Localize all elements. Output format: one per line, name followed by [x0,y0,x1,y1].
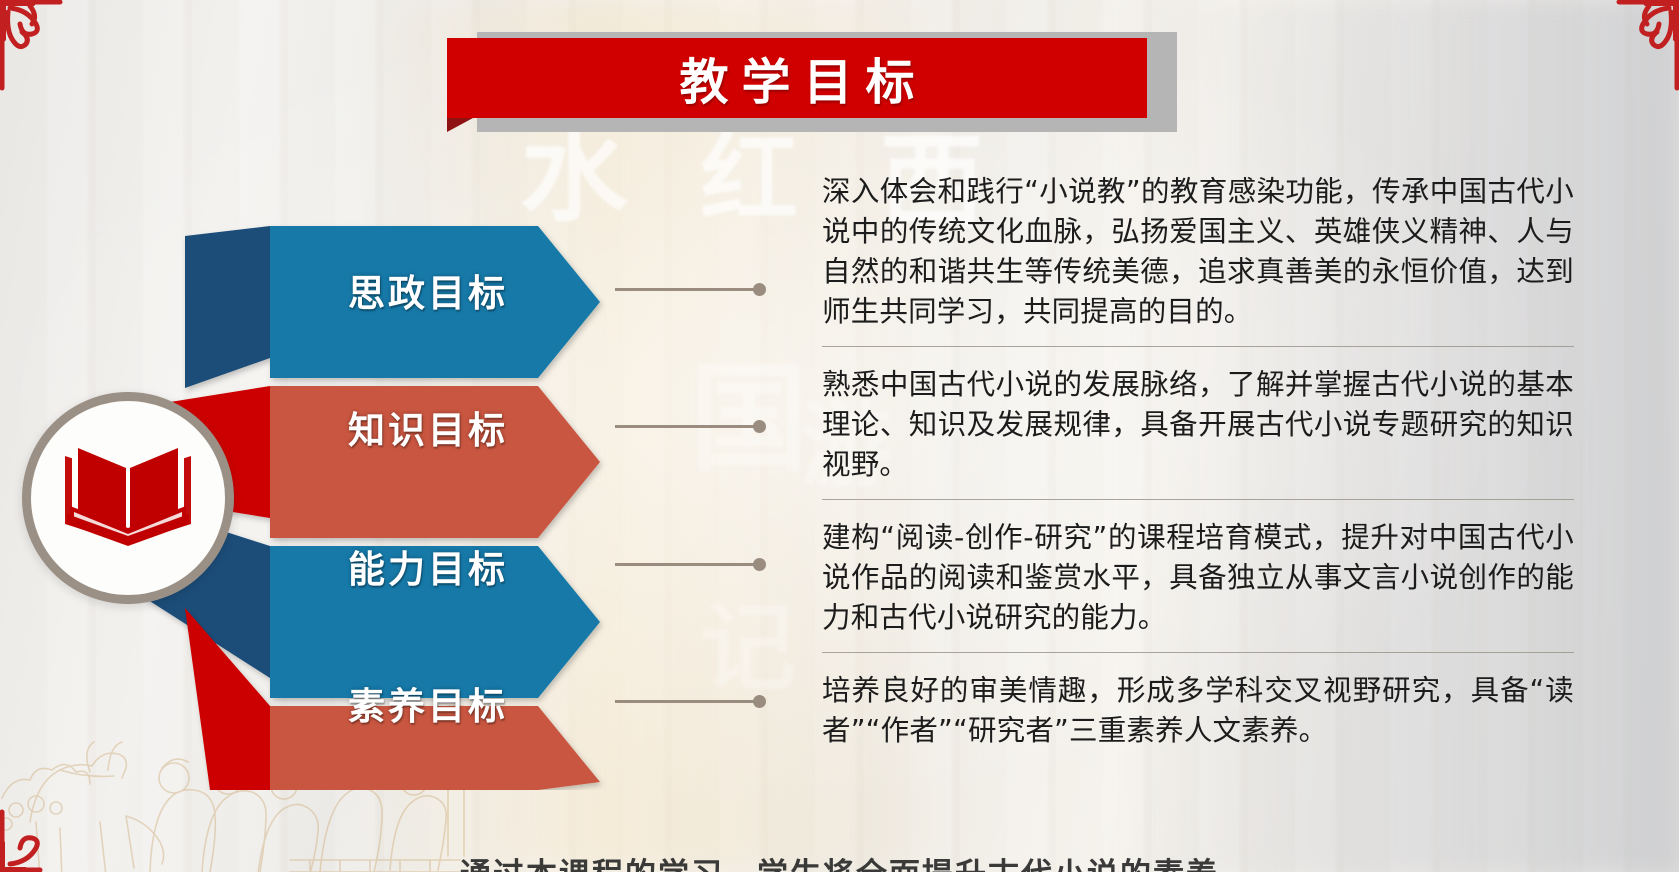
page-title: 教学目标 [447,38,1147,118]
goal-description-literacy: 培养良好的审美情趣，形成多学科交叉视野研究，具备“读者”“作者”“研究者”三重素… [822,671,1574,751]
goal-divider-3 [822,652,1574,653]
slide-canvas: 水 红 西 国 游 记 [0,0,1679,872]
goal-description-ideological: 深入体会和践行“小说教”的教育感染功能，传承中国古代小说中的传统文化血脉，弘扬爱… [822,172,1574,332]
title-banner-fold [447,118,473,132]
corner-ornament-top-left-icon [0,0,92,92]
corner-ornament-top-right-icon [1587,0,1679,92]
goal-description-ability: 建构“阅读-创作-研究”的课程培育模式，提升对中国古代小说作品的阅读和鉴赏水平，… [822,518,1574,638]
goal-chevron-body-literacy [270,706,600,790]
goal-divider-1 [822,346,1574,347]
bottom-caption: 通过本课程的学习，学生将全面提升古代小说的素养 [0,849,1679,872]
open-book-badge [22,392,234,604]
connector-dot-ability [753,558,766,571]
goal-description-block-literacy: 培养良好的审美情趣，形成多学科交叉视野研究，具备“读者”“作者”“研究者”三重素… [822,671,1574,751]
goal-description-knowledge: 熟悉中国古代小说的发展脉络，了解并掌握古代小说的基本理论、知识及发展规律，具备开… [822,365,1574,485]
title-banner: 教学目标 [447,24,1177,132]
connector-dot-knowledge [753,420,766,433]
connector-dot-literacy [753,695,766,708]
goal-description-block-ideological: 深入体会和践行“小说教”的教育感染功能，传承中国古代小说中的传统文化血脉，弘扬爱… [822,172,1574,332]
goal-description-block-ability: 建构“阅读-创作-研究”的课程培育模式，提升对中国古代小说作品的阅读和鉴赏水平，… [822,518,1574,638]
goal-description-column: 深入体会和践行“小说教”的教育感染功能，传承中国古代小说中的传统文化血脉，弘扬爱… [822,172,1574,751]
goal-chevron-body-ability [270,546,600,698]
connector-ideological [615,288,760,291]
connector-knowledge [615,425,760,428]
goal-description-block-knowledge: 熟悉中国古代小说的发展脉络，了解并掌握古代小说的基本理论、知识及发展规律，具备开… [822,365,1574,485]
goal-chevron-body-ideological [270,226,600,378]
connector-ability [615,563,760,566]
goal-chevron-ideological [185,226,600,388]
open-book-icon [62,446,194,550]
goal-chevron-tail-ideological [185,226,270,388]
connector-literacy [615,700,760,703]
connector-dot-ideological [753,283,766,296]
goal-chevron-body-knowledge [270,386,600,538]
goal-divider-2 [822,499,1574,500]
